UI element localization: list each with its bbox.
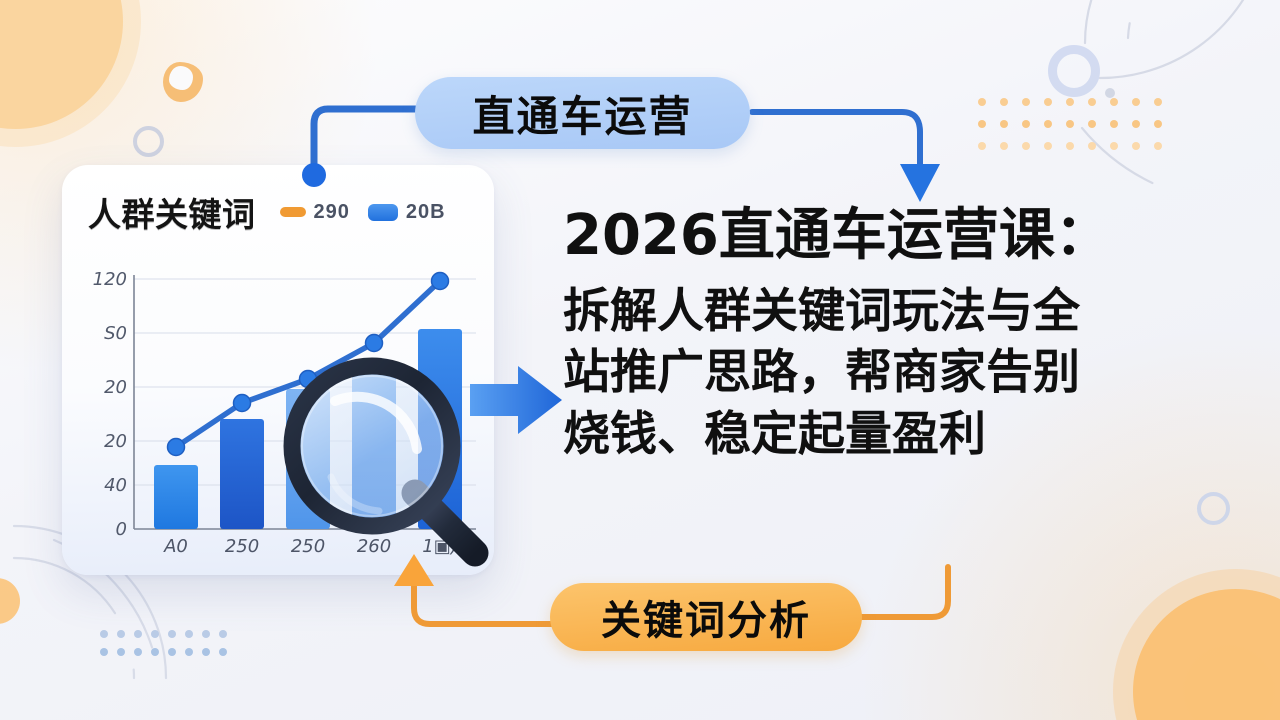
connector-bottom-badge-right — [852, 565, 962, 655]
svg-text:260: 260 — [357, 536, 391, 557]
svg-text:40: 40 — [104, 475, 127, 496]
chart-title: 人群关键词 — [88, 188, 256, 236]
decor-dotgrid-blue — [100, 630, 236, 666]
decor-ring-top-left — [133, 126, 164, 157]
legend-label-20b: 20B — [406, 201, 446, 224]
page-title: 2026直通车运营课： — [563, 206, 1225, 265]
body-line-1: 拆解人群关键词玩法与全 — [563, 281, 1225, 342]
body-line-2: 站推广思路，帮商家告别 — [563, 342, 1225, 403]
legend-swatch-orange — [280, 207, 306, 217]
svg-text:S0: S0 — [104, 323, 127, 344]
decor-circle-bottom-left — [0, 578, 20, 624]
body-line-3: 烧钱、稳定起量盈利 — [563, 404, 1225, 465]
legend-item-bar: 20B — [368, 201, 446, 224]
svg-text:20: 20 — [104, 377, 127, 398]
decor-dotgrid-orange — [978, 98, 1176, 164]
poster-copy: 2026直通车运营课： 拆解人群关键词玩法与全 站推广思路，帮商家告别 烧钱、稳… — [563, 206, 1225, 465]
svg-text:120: 120 — [93, 269, 127, 290]
svg-text:A0: A0 — [163, 536, 188, 557]
poster-canvas: 人群关键词 290 20B — [0, 0, 1280, 720]
svg-text:250: 250 — [291, 536, 325, 557]
poster-body: 拆解人群关键词玩法与全 站推广思路，帮商家告别 烧钱、稳定起量盈利 — [563, 281, 1225, 464]
svg-text:1▣): 1▣) — [422, 536, 457, 557]
badge-top-zhitongche[interactable]: 直通车运营 — [415, 77, 750, 149]
legend-label-290: 290 — [314, 201, 350, 224]
chart-legend: 290 20B — [280, 201, 446, 224]
connector-top-badge-to-headline — [748, 98, 938, 210]
badge-bottom-keyword-analysis[interactable]: 关键词分析 — [550, 583, 862, 651]
legend-swatch-blue — [368, 204, 398, 221]
chart-card: 人群关键词 290 20B — [62, 165, 494, 575]
decor-ring-top-right — [1048, 45, 1100, 97]
arrow-down-icon — [900, 164, 940, 202]
svg-text:0: 0 — [116, 519, 127, 540]
svg-text:20: 20 — [104, 431, 127, 452]
decor-circle-bottom-right — [1133, 589, 1280, 720]
legend-item-line: 290 — [280, 201, 350, 224]
chart-card-header: 人群关键词 290 20B — [88, 191, 472, 233]
decor-ring-bottom-right — [1197, 492, 1230, 525]
chart-plot-area: 120 S0 20 20 40 0 — [86, 257, 480, 557]
decor-circle-top-left — [0, 0, 123, 129]
decor-blob-top-left — [163, 62, 203, 102]
svg-text:250: 250 — [225, 536, 259, 557]
